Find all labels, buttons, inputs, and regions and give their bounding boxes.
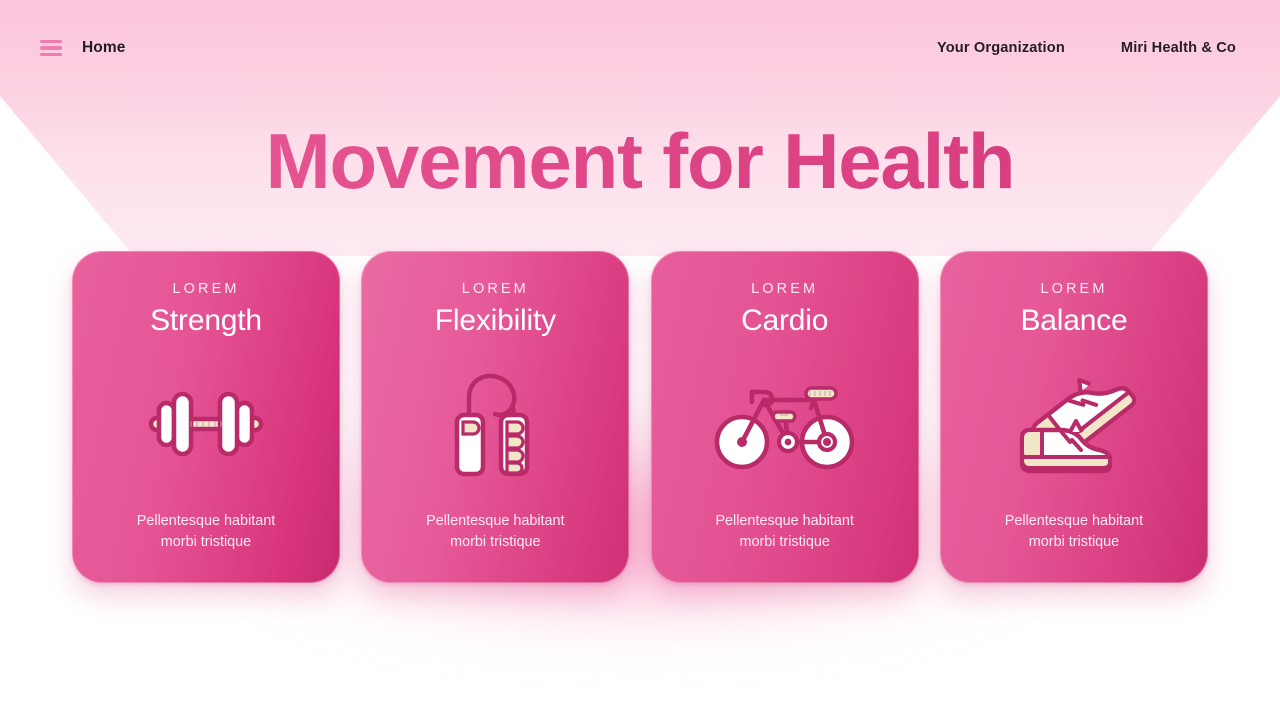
card-description-line-2: morbi tristique xyxy=(715,532,853,553)
hamburger-bar-3 xyxy=(40,53,62,56)
card-description: Pellentesque habitant morbi tristique xyxy=(426,511,564,553)
dumbbell-icon xyxy=(90,338,322,511)
card-title: Cardio xyxy=(741,304,828,338)
card-description: Pellentesque habitant morbi tristique xyxy=(715,511,853,553)
card-kicker: LOREM xyxy=(462,281,529,297)
card-kicker: LOREM xyxy=(1040,281,1107,297)
nav-item-home[interactable]: Home xyxy=(82,39,125,57)
feature-card-flexibility[interactable]: LOREM Flexibility xyxy=(361,251,629,583)
card-description-line-2: morbi tristique xyxy=(137,532,275,553)
header-left-group: Home xyxy=(40,39,125,57)
card-description-line-1: Pellentesque habitant xyxy=(715,511,853,532)
nav-item-brand[interactable]: Miri Health & Co xyxy=(1121,40,1236,56)
card-title: Strength xyxy=(150,304,262,338)
hamburger-bar-2 xyxy=(40,46,62,49)
nav-item-your-organization[interactable]: Your Organization xyxy=(937,40,1065,56)
card-description: Pellentesque habitant morbi tristique xyxy=(1005,511,1143,553)
hand-gripper-icon xyxy=(379,338,611,511)
feature-card-balance[interactable]: LOREM Balance xyxy=(940,251,1208,583)
card-description-line-2: morbi tristique xyxy=(426,532,564,553)
card-description-line-2: morbi tristique xyxy=(1005,532,1143,553)
card-description: Pellentesque habitant morbi tristique xyxy=(137,511,275,553)
hamburger-menu-icon[interactable] xyxy=(40,40,62,57)
hamburger-bar-1 xyxy=(40,40,62,43)
site-header: Home Your Organization Miri Health & Co xyxy=(0,0,1280,96)
feature-card-strength[interactable]: LOREM Strength xyxy=(72,251,340,583)
card-description-line-1: Pellentesque habitant xyxy=(137,511,275,532)
card-title: Balance xyxy=(1020,304,1127,338)
sneakers-icon xyxy=(958,338,1190,511)
page-title: Movement for Health xyxy=(0,118,1280,205)
header-right-group: Your Organization Miri Health & Co xyxy=(937,40,1236,56)
feature-card-list: LOREM Strength xyxy=(72,251,1208,583)
bicycle-icon xyxy=(669,338,901,511)
feature-card-cardio[interactable]: LOREM Cardio xyxy=(651,251,919,583)
card-title: Flexibility xyxy=(435,304,556,338)
card-description-line-1: Pellentesque habitant xyxy=(1005,511,1143,532)
card-kicker: LOREM xyxy=(751,281,818,297)
card-kicker: LOREM xyxy=(172,281,239,297)
card-description-line-1: Pellentesque habitant xyxy=(426,511,564,532)
